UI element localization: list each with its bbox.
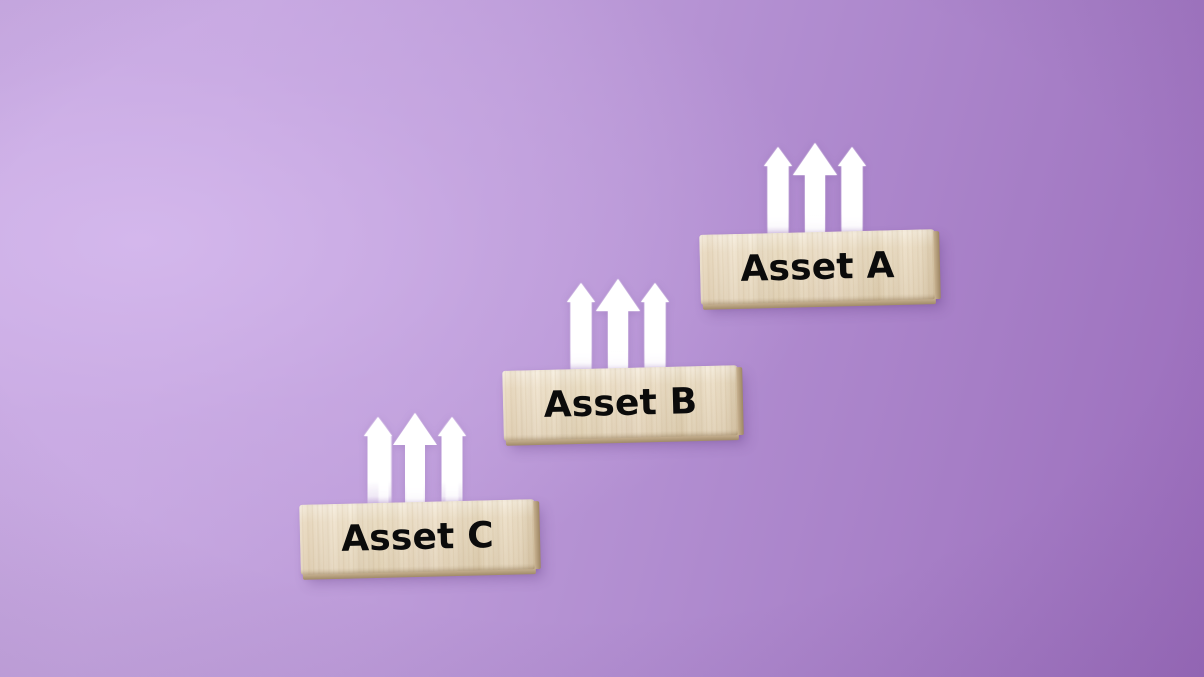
block-label-asset-c: Asset C bbox=[299, 499, 536, 575]
wooden-block-asset-b[interactable]: Asset B bbox=[502, 365, 739, 441]
three-up-arrows-icon-a bbox=[755, 122, 875, 240]
three-up-arrows-icon-b bbox=[558, 258, 678, 376]
block-label-asset-b: Asset B bbox=[502, 365, 739, 441]
block-label-asset-a: Asset A bbox=[699, 229, 936, 305]
wooden-block-asset-a[interactable]: Asset A bbox=[699, 229, 936, 305]
step-asset-a[interactable]: Asset A bbox=[700, 122, 950, 312]
three-up-arrows-icon-c bbox=[355, 392, 475, 510]
scene-canvas: Asset C bbox=[0, 0, 1204, 677]
wooden-block-asset-c[interactable]: Asset C bbox=[299, 499, 536, 575]
